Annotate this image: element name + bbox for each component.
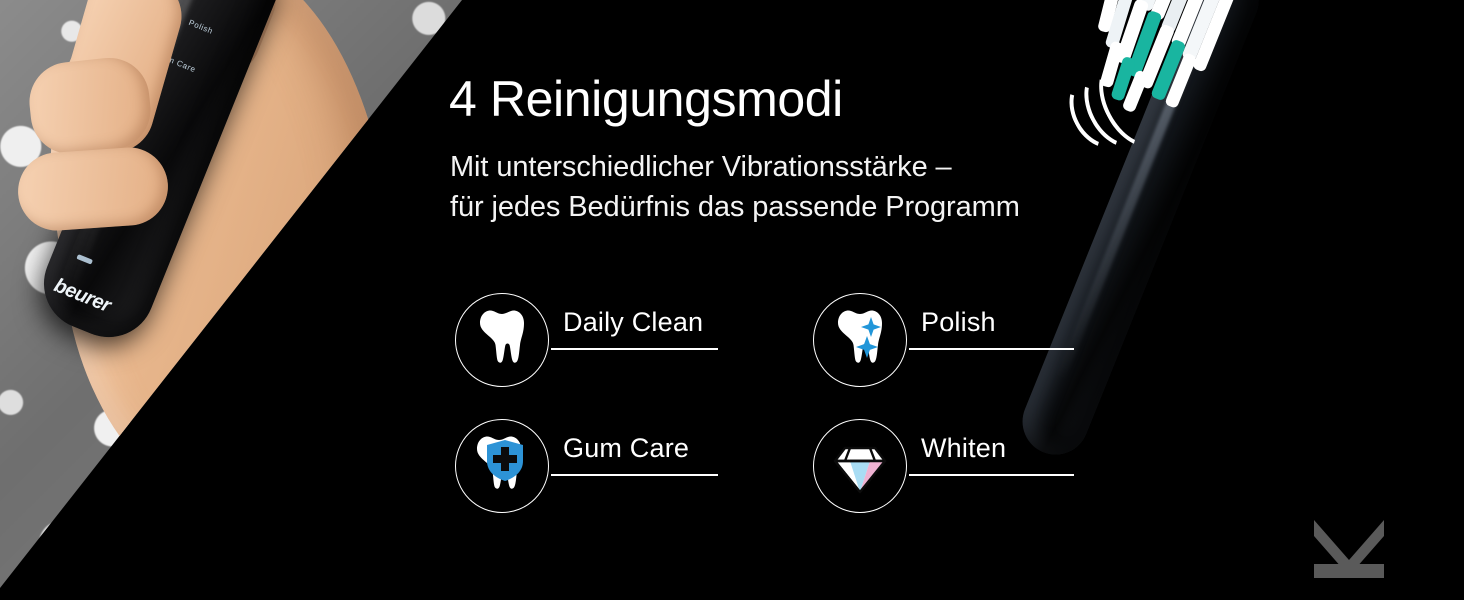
handle-mode-polish: Polish xyxy=(187,18,214,36)
product-photo: White Polish Gum Care beurer xyxy=(0,0,470,600)
vibration-arcs xyxy=(1070,58,1150,150)
mode-label: Polish xyxy=(921,307,996,338)
mode-underline xyxy=(909,474,1074,476)
subtitle: Mit unterschiedlicher Vibrationsstärke –… xyxy=(450,147,1020,227)
diamond-icon xyxy=(813,419,907,513)
brand-logo: beurer xyxy=(51,274,114,317)
mode-label: Whiten xyxy=(921,433,1006,464)
mode-underline xyxy=(551,348,718,350)
product-feature-banner: White Polish Gum Care beurer xyxy=(0,0,1464,600)
subtitle-line-2: für jedes Bedürfnis das passende Program… xyxy=(450,187,1020,227)
mode-underline xyxy=(551,474,718,476)
mode-underline xyxy=(909,348,1074,350)
mode-label: Daily Clean xyxy=(563,307,703,338)
subtitle-line-1: Mit unterschiedlicher Vibrationsstärke – xyxy=(450,147,1020,187)
tooth-shield-plus-icon xyxy=(455,419,549,513)
finger xyxy=(15,145,170,233)
mode-label: Gum Care xyxy=(563,433,689,464)
tooth-icon xyxy=(455,293,549,387)
tooth-sparkle-icon xyxy=(813,293,907,387)
page-title: 4 Reinigungsmodi xyxy=(449,70,843,128)
download-chevron-icon[interactable] xyxy=(1310,518,1388,582)
